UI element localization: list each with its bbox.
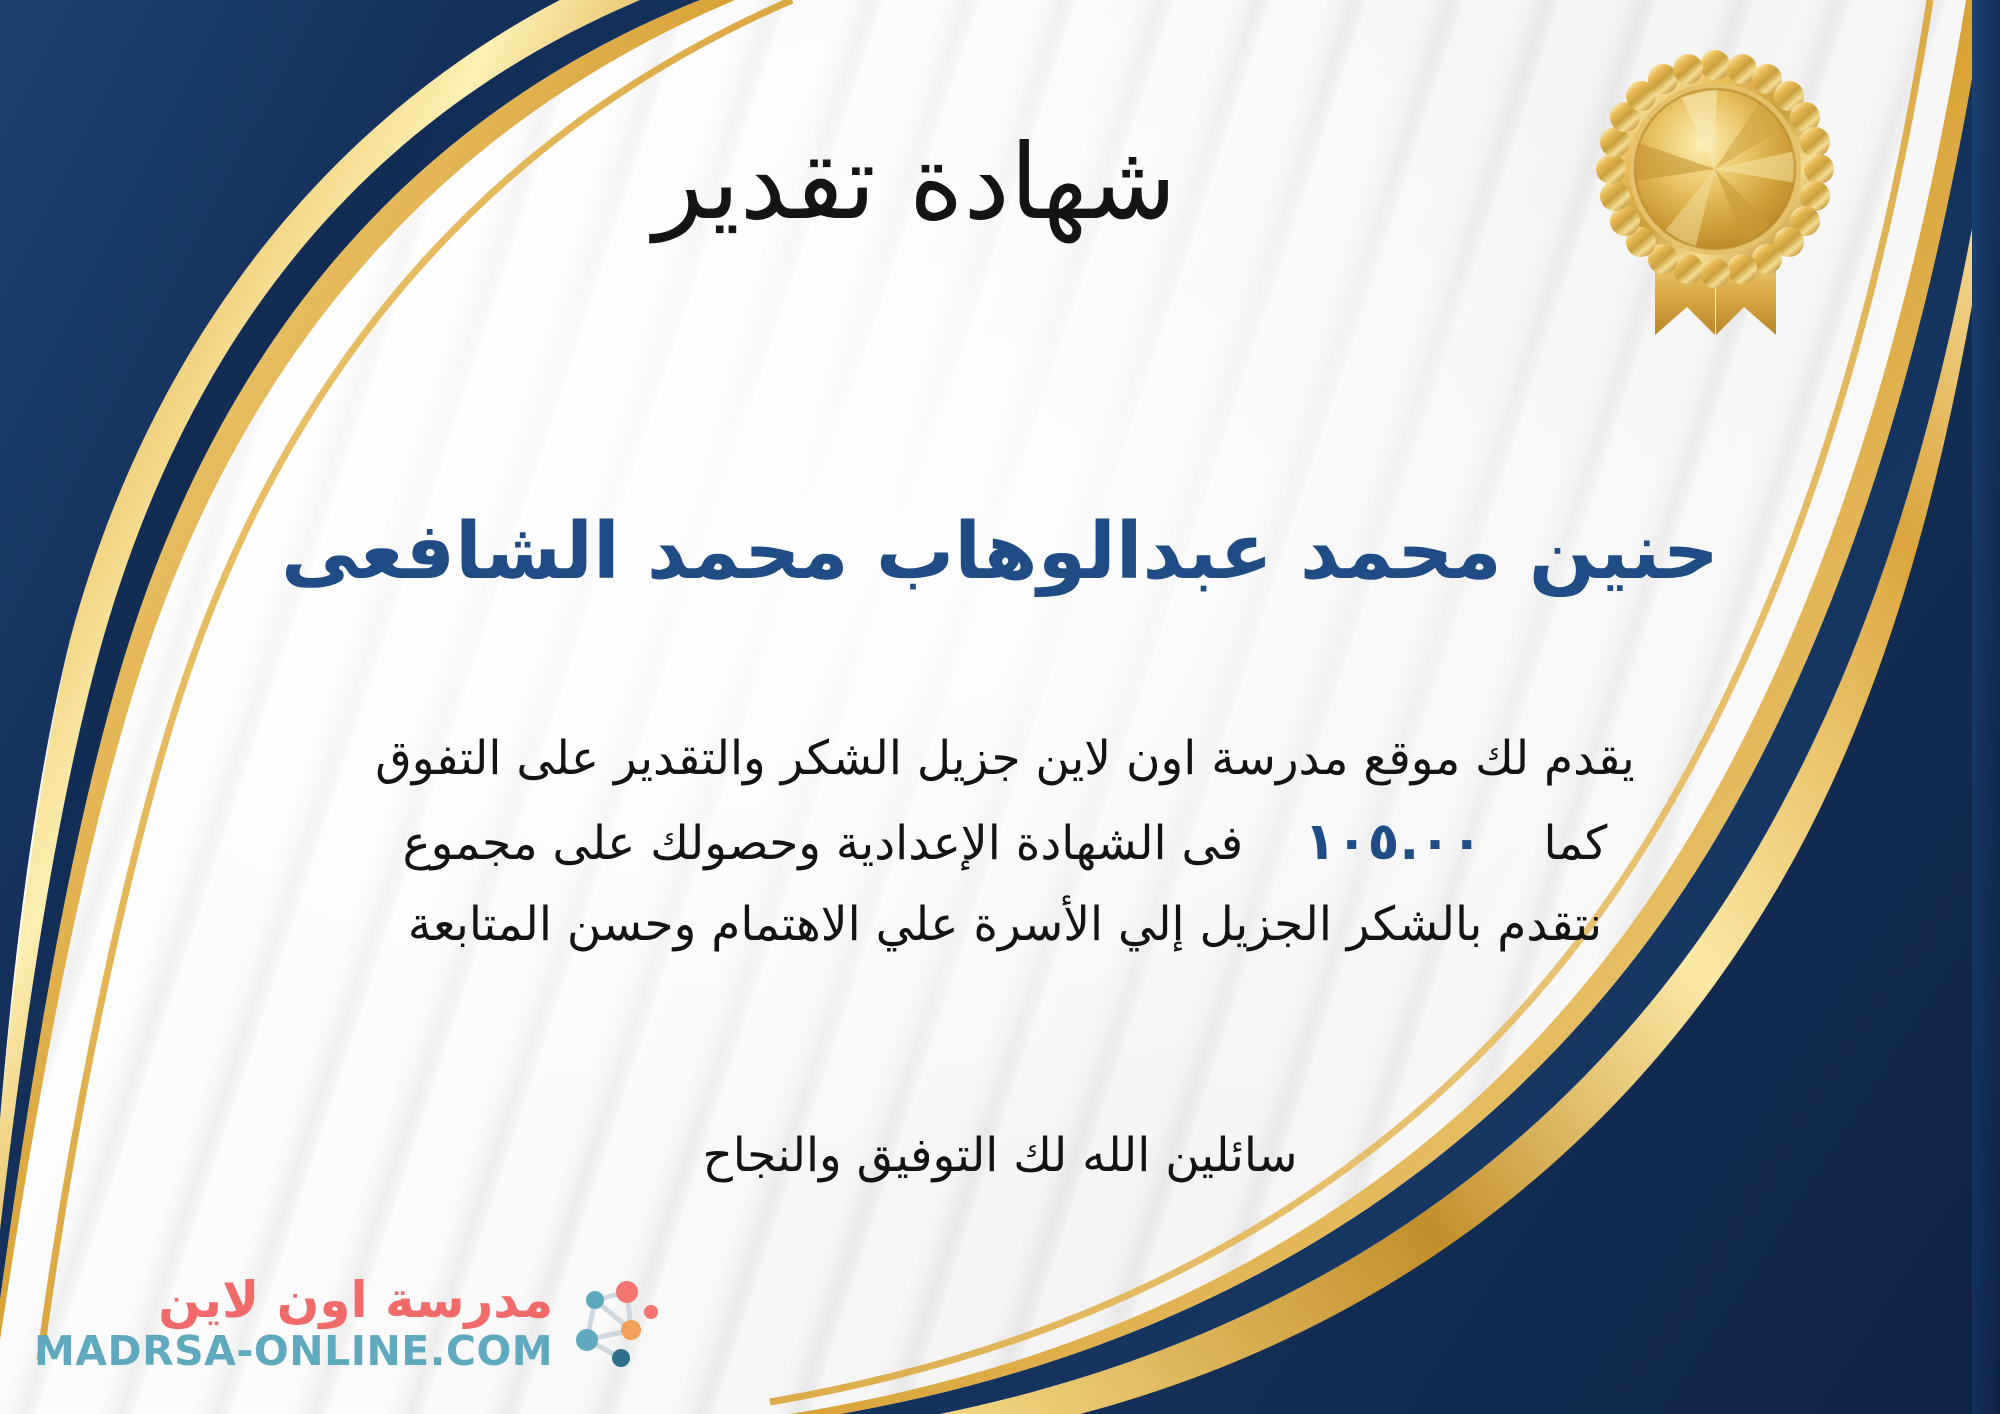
body-line-2-prefix: فى الشهادة الإعدادية وحصولك على مجموع bbox=[403, 816, 1244, 871]
recipient-name: حنين محمد عبدالوهاب محمد الشافعى bbox=[0, 508, 2000, 598]
body-line-3: نتقدم بالشكر الجزيل إلي الأسرة علي الاهت… bbox=[120, 886, 1890, 965]
certificate-canvas: شهادة تقدير حنين محمد عبدالوهاب محمد الش… bbox=[0, 0, 2000, 1414]
brand-logo[interactable]: مدرسة اون لاين MADRSA-ONLINE.COM bbox=[34, 1275, 661, 1372]
network-nodes-icon bbox=[565, 1278, 661, 1370]
body-line-1: يقدم لك موقع مدرسة اون لاين جزيل الشكر و… bbox=[120, 720, 1890, 799]
body-line-2-suffix: كما bbox=[1544, 816, 1608, 871]
score-value: ١٠٥.٠٠ bbox=[1258, 812, 1528, 872]
brand-website: MADRSA-ONLINE.COM bbox=[34, 1331, 553, 1372]
brand-arabic-name: مدرسة اون لاين bbox=[158, 1275, 553, 1325]
closing-line: سائلين الله لك التوفيق والنجاح bbox=[0, 1128, 2000, 1183]
body-line-2: كما ١٠٥.٠٠ فى الشهادة الإعدادية وحصولك ع… bbox=[120, 799, 1890, 886]
certificate-body: يقدم لك موقع مدرسة اون لاين جزيل الشكر و… bbox=[120, 720, 1890, 965]
certificate-title: شهادة تقدير bbox=[0, 128, 2000, 237]
